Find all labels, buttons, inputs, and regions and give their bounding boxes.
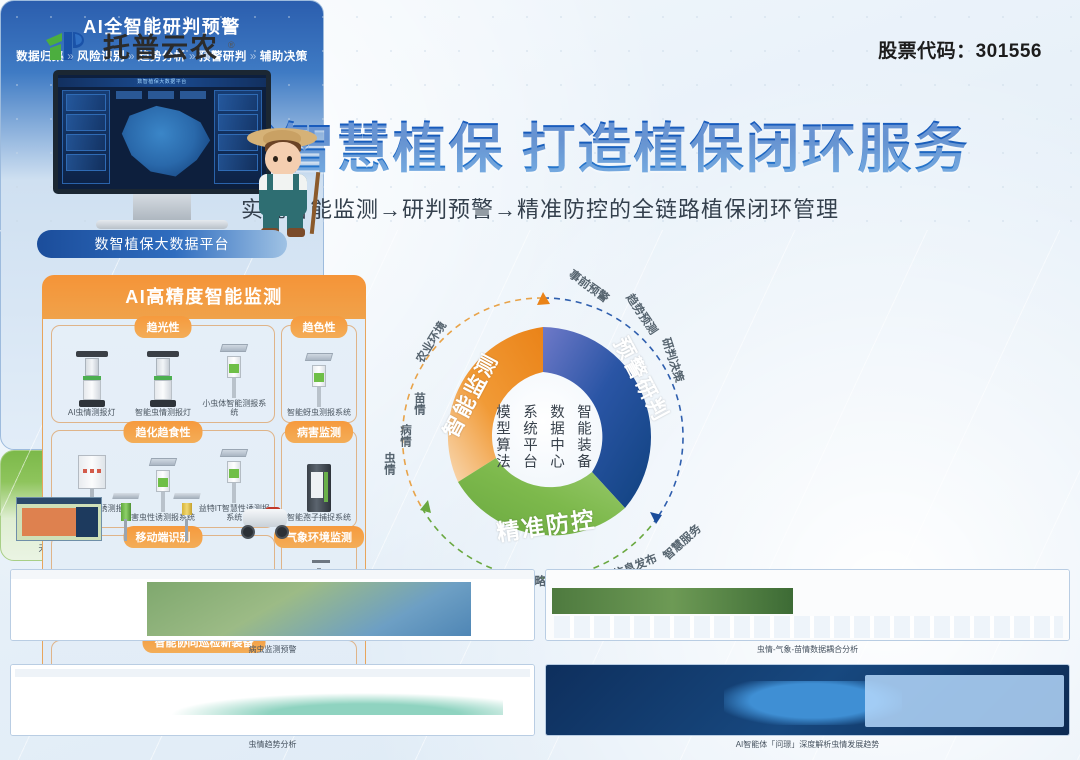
chevron-separator-icon: » [250,51,257,63]
device-item[interactable]: 小虫体智能测报系统 [199,344,270,418]
group-label: 病害监测 [285,421,353,443]
screen-kpi-chips [116,91,210,99]
screen-title: 数智植保大数据平台 [137,78,187,85]
device-item[interactable]: 智能蚜虫测报系统 [286,353,352,418]
chevron-separator-icon: » [189,51,196,63]
device-caption: 小虫体智能测报系统 [199,400,270,418]
chevron-separator-icon: » [128,51,135,63]
spore-box-icon [307,464,331,512]
group-chromotaxis: 趋色性 智能蚜虫测报系统 [281,325,357,423]
registered-mark: ® [228,40,235,50]
screen-left-column [62,90,110,184]
center-item: 模型算法 [492,404,513,470]
field-map-icon [16,497,102,541]
device-item[interactable]: 智能虫情测报灯 [127,351,198,418]
solar-pole-icon [223,344,245,398]
insect-lamp-icon [79,351,105,407]
monitor-foot [96,220,228,229]
smart-trap-icon [223,449,245,503]
center-item: 系统平台 [519,404,540,470]
device-caption: AI虫情测报灯 [56,409,127,418]
group-phototaxis: 趋光性 AI虫情测报灯 智能虫情测报灯 小虫体智能测报系统 [51,325,275,423]
center-item: 数据中心 [546,404,567,470]
dashboard-screen: 数智植保大数据平台 [53,70,271,194]
device-item[interactable]: AI虫情测报灯 [56,351,127,418]
device-item[interactable]: 智能孢子捕捉系统 [286,464,352,523]
farmer-mascot [245,128,319,238]
closed-loop-cycle-diagram: 智能监测 预警研判 精准防控 智能装备 数据中心 系统平台 模型算法 虫情 病情… [378,272,708,602]
field-robot-icon [237,501,293,541]
shovel-icon [310,172,320,234]
platform-label-button[interactable]: 数智植保大数据平台 [37,230,287,258]
kill-lamp-yellow-icon [176,493,198,541]
device-caption: 智能蚜虫测报系统 [286,409,352,418]
screen-map-icon [118,101,214,183]
kill-lamp-green-icon [115,493,137,541]
group-label: 趋光性 [135,316,192,338]
device-caption: 智能虫情测报灯 [127,409,198,418]
cycle-center-text: 智能装备 数据中心 系统平台 模型算法 [473,404,613,470]
group-label: 趋化趋食性 [124,421,203,443]
device-caption: 智能孢子捕捉系统 [286,514,352,523]
chevron-separator-icon: » [67,51,74,63]
desktop-monitor-icon: 数智植保大数据平台 [53,70,271,229]
insect-lamp-icon [150,351,176,407]
solar-pole-icon [152,458,174,512]
cycle-left-label: 苗情 [411,392,427,415]
center-item: 智能装备 [573,404,594,470]
cabinet-icon [78,453,106,503]
stock-code: 股票代码：301556 [878,36,1042,63]
cycle-left-label: 病情 [397,424,413,447]
monitor-illustration: 数智植保大数据平台 数智植保大数据平台 [1,70,323,256]
solar-pole-icon [308,353,330,407]
group-label: 趋色性 [291,316,348,338]
cycle-left-label: 虫情 [381,452,397,475]
monitor-stand [133,194,191,220]
brand-name: 托普云农 [103,26,219,65]
panel-monitoring-title: AI高精度智能监测 [42,275,366,319]
